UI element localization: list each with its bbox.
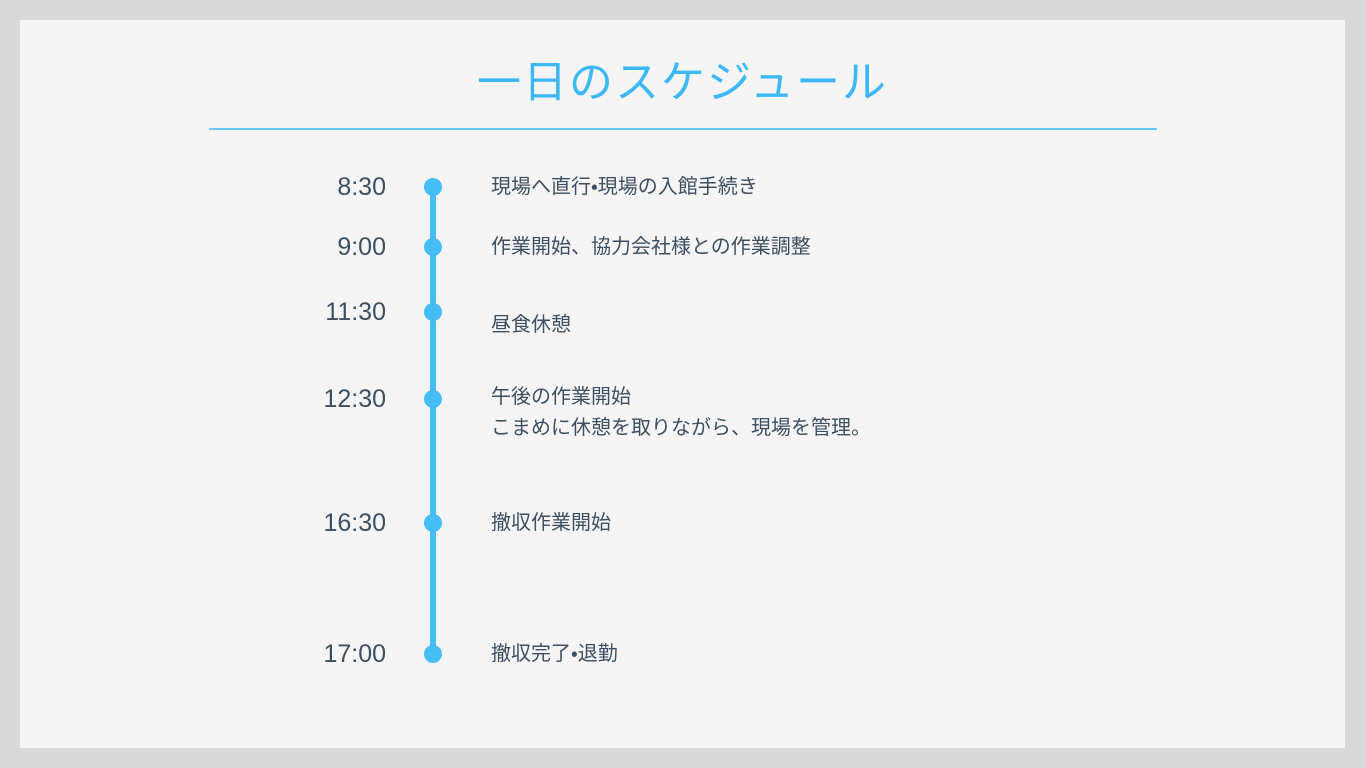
timeline-node-dot-icon [424,238,442,256]
timeline-node-dot-icon [424,303,442,321]
timeline-time-label: 9:00 [186,232,386,262]
timeline-event-description: 撤収作業開始 [491,508,1291,539]
timeline-node-dot-icon [424,514,442,532]
timeline-time-label: 8:30 [186,172,386,202]
timeline-time-label: 11:30 [186,297,386,327]
timeline-time-label: 16:30 [186,508,386,538]
slide-canvas: 一日のスケジュール 8:30 現場へ直行・現場の入館手続き 9:00 作業開始、… [20,20,1345,748]
timeline-time-label: 12:30 [186,384,386,414]
timeline-event-description: 作業開始、協力会社様との作業調整 [491,232,1291,263]
timeline-time-label: 17:00 [186,639,386,669]
timeline-event-description: 昼食休憩 [491,310,1291,341]
timeline-node-dot-icon [424,178,442,196]
timeline-event-description: 撤収完了・退勤 [491,639,1291,670]
timeline-event-description: 午後の作業開始 こまめに休憩を取りながら、現場を管理。 [491,382,1291,444]
timeline-node-dot-icon [424,645,442,663]
schedule-timeline: 8:30 現場へ直行・現場の入館手続き 9:00 作業開始、協力会社様との作業調… [20,20,1345,748]
timeline-spine-line [430,187,436,654]
timeline-event-description: 現場へ直行・現場の入館手続き [491,172,1291,203]
timeline-node-dot-icon [424,390,442,408]
